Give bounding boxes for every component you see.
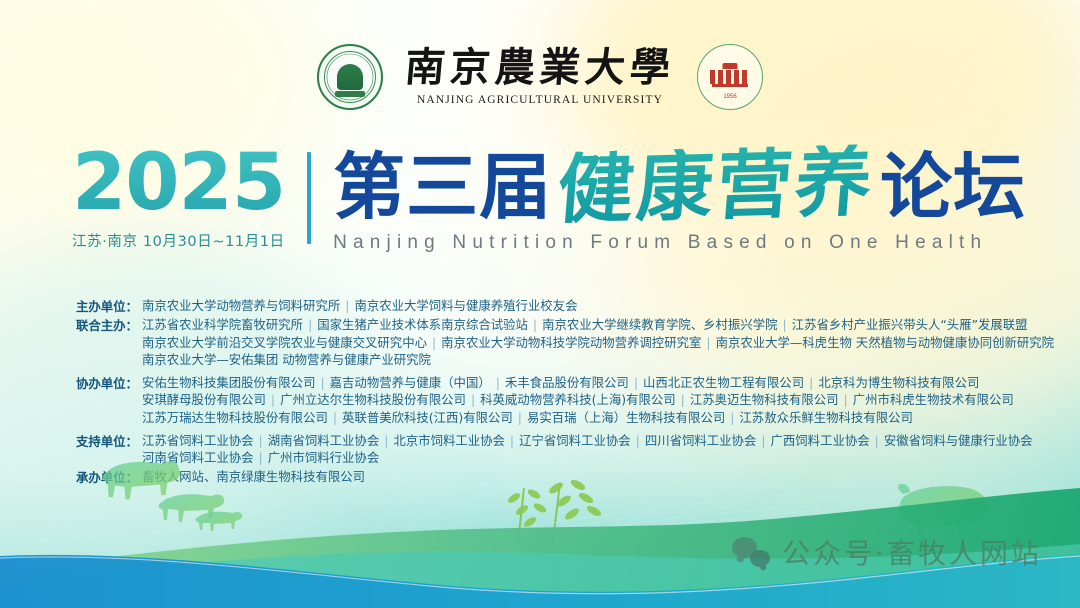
credits-block: 主办单位： 南京农业大学动物营养与饲料研究所|南京农业大学饲料与健康养殖行业校友… xyxy=(76,297,1066,487)
location-date: 江苏·南京 10月30日~11月1日 xyxy=(72,230,285,251)
credit-line: 江苏省农业科学院畜牧研究所|国家生猪产业技术体系南京综合试验站|南京农业大学继续… xyxy=(142,316,1066,334)
anniversary-year: 1956 xyxy=(723,94,736,100)
university-name-zh: 南京農業大學 xyxy=(403,48,676,88)
wheat-stalks xyxy=(518,483,560,549)
gate-emblem-icon: 1956 xyxy=(710,63,750,91)
credit-line: 江苏省饲料工业协会|湖南省饲料工业协会|北京市饲料工业协会|辽宁省饲料工业协会|… xyxy=(142,432,1066,450)
title-forum: 论坛 xyxy=(880,151,1026,223)
year-block: 2025 江苏·南京 10月30日~11月1日 xyxy=(72,148,285,251)
credit-line: 南京农业大学动物营养与饲料研究所|南京农业大学饲料与健康养殖行业校友会 xyxy=(142,297,1066,315)
credit-line: 安佑生物科技集团股份有限公司|嘉吉动物营养与健康（中国）|禾丰食品股份有限公司|… xyxy=(142,374,1066,392)
university-name-en: NANJING AGRICULTURAL UNIVERSITY xyxy=(417,95,663,107)
anniversary-badge-icon: 1956 xyxy=(697,44,763,110)
conference-poster: 南京農業大學 NANJING AGRICULTURAL UNIVERSITY 1… xyxy=(0,0,1080,608)
watermark: 公众号·畜牧人网站 xyxy=(732,532,1042,572)
title-block: 第三届 健康营养 论坛 Nanjing Nutrition Forum Base… xyxy=(333,148,1026,254)
credit-row-cosponsor: 联合主办： 江苏省农业科学院畜牧研究所|国家生猪产业技术体系南京综合试验站|南京… xyxy=(76,316,1066,369)
credit-label-supporting: 支持单位： xyxy=(76,432,142,450)
credit-line: 河南省饲料工业协会|广州市饲料行业协会 xyxy=(142,449,1066,467)
credit-body-cosponsor: 江苏省农业科学院畜牧研究所|国家生猪产业技术体系南京综合试验站|南京农业大学继续… xyxy=(142,316,1066,369)
credit-line: 江苏万瑞达生物科技股份有限公司|英联普美欣科技(江西)有限公司|易实百瑞（上海）… xyxy=(142,409,1066,427)
credit-line: 南京农业大学—安佑集团 动物营养与健康产业研究院 xyxy=(142,351,1066,369)
vertical-divider xyxy=(307,152,311,244)
logo-row: 南京農業大學 NANJING AGRICULTURAL UNIVERSITY 1… xyxy=(0,34,1080,120)
subtitle-english: Nanjing Nutrition Forum Based on One Hea… xyxy=(333,232,1026,254)
pagoda-emblem-icon xyxy=(337,64,363,90)
credit-row-supporting: 支持单位： 江苏省饲料工业协会|湖南省饲料工业协会|北京市饲料工业协会|辽宁省饲… xyxy=(76,432,1066,467)
watermark-text: 公众号·畜牧人网站 xyxy=(782,532,1042,572)
headline: 2025 江苏·南京 10月30日~11月1日 第三届 健康营养 论坛 Nanj… xyxy=(72,148,1032,278)
credit-row-organizer: 承办单位： 畜牧人网站、南京绿康生物科技有限公司 xyxy=(76,468,1066,486)
credit-label-assisting: 协办单位： xyxy=(76,374,142,392)
credit-row-assisting: 协办单位： 安佑生物科技集团股份有限公司|嘉吉动物营养与健康（中国）|禾丰食品股… xyxy=(76,374,1066,427)
credit-label-sponsor: 主办单位： xyxy=(76,297,142,315)
title-edition: 第三届 xyxy=(333,151,552,223)
university-seal-icon xyxy=(317,44,383,110)
credit-label-cosponsor: 联合主办： xyxy=(76,316,142,334)
university-name: 南京農業大學 NANJING AGRICULTURAL UNIVERSITY xyxy=(405,48,675,107)
year-2025: 2025 xyxy=(72,148,285,220)
credit-line: 安琪酵母股份有限公司|广州立达尔生物科技股份有限公司|科英威动物营养科技(上海)… xyxy=(142,391,1066,409)
credit-row-sponsor: 主办单位： 南京农业大学动物营养与饲料研究所|南京农业大学饲料与健康养殖行业校友… xyxy=(76,297,1066,315)
title-theme: 健康营养 xyxy=(555,144,878,228)
credit-line: 南京农业大学前沿交叉学院农业与健康交叉研究中心|南京农业大学动物科技学院动物营养… xyxy=(142,334,1066,352)
credit-label-organizer: 承办单位： xyxy=(76,468,142,486)
credit-body-supporting: 江苏省饲料工业协会|湖南省饲料工业协会|北京市饲料工业协会|辽宁省饲料工业协会|… xyxy=(142,432,1066,467)
credit-line: 畜牧人网站、南京绿康生物科技有限公司 xyxy=(142,468,1066,486)
credit-body-organizer: 畜牧人网站、南京绿康生物科技有限公司 xyxy=(142,468,1066,486)
credit-body-sponsor: 南京农业大学动物营养与饲料研究所|南京农业大学饲料与健康养殖行业校友会 xyxy=(142,297,1066,315)
wechat-icon xyxy=(732,537,770,567)
credit-body-assisting: 安佑生物科技集团股份有限公司|嘉吉动物营养与健康（中国）|禾丰食品股份有限公司|… xyxy=(142,374,1066,427)
